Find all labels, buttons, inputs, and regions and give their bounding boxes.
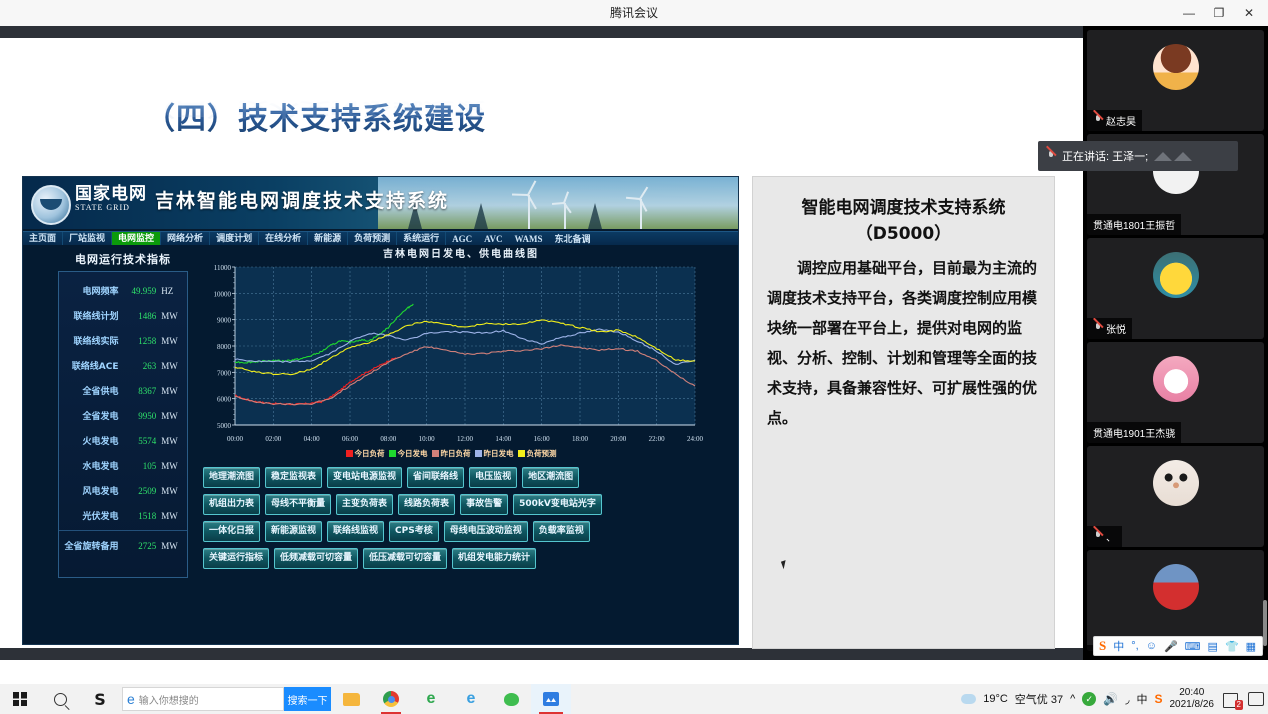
mic-muted-icon xyxy=(1046,151,1056,162)
ems-function-button[interactable]: 事故告警 xyxy=(460,494,508,515)
participant-name: 张悦 xyxy=(1106,321,1126,336)
clock-time: 20:40 xyxy=(1170,687,1215,699)
chevron-up-icon[interactable] xyxy=(1174,152,1192,161)
chart-legend-item: 负荷预测 xyxy=(518,448,557,459)
metric-unit: HZ xyxy=(156,286,187,296)
360-browser-icon[interactable]: e xyxy=(411,684,451,714)
edge-icon: e xyxy=(123,691,135,707)
text-panel-title-line1: 智能电网调度技术支持系统 xyxy=(767,195,1040,221)
metric-unit: MW xyxy=(156,411,187,421)
grid-metrics-panel: 电网运行技术指标 电网频率49.959HZ联络线计划1486MW联络线实际125… xyxy=(58,251,188,586)
volume-icon[interactable]: 🔊 xyxy=(1103,692,1118,706)
speaking-label: 正在讲话: 王泽一; xyxy=(1062,148,1148,164)
action-center-icon[interactable] xyxy=(1248,692,1264,706)
ems-function-button[interactable]: 500kV变电站光字 xyxy=(513,494,602,515)
ems-function-button[interactable]: 母线电压波动监视 xyxy=(444,521,528,542)
chart-legend-item: 今日发电 xyxy=(389,448,428,459)
metric-row: 联络线ACE263MW xyxy=(59,353,187,378)
minimize-button[interactable]: — xyxy=(1174,0,1204,26)
keyboard-icon[interactable]: ⌨ xyxy=(1185,640,1201,653)
notification-count-badge: 2 xyxy=(1235,700,1243,710)
chart-x-tick-label: 02:00 xyxy=(265,435,281,443)
chevron-up-icon[interactable] xyxy=(1154,152,1172,161)
ems-menu-item[interactable]: AVC xyxy=(478,232,508,246)
ems-function-button[interactable]: 机组发电能力统计 xyxy=(452,548,536,569)
metric-label: 风电发电 xyxy=(59,484,123,497)
sogou-ime-toolbar[interactable]: S 中 °, ☺ 🎤 ⌨ ▤ 👕 ▦ xyxy=(1093,636,1263,656)
participant-name-tag: 贯通电1901王杰骁 xyxy=(1087,422,1181,443)
ems-function-button[interactable]: 负载率监视 xyxy=(533,521,590,542)
legend-color-swatch xyxy=(389,450,396,457)
metric-row: 全省供电8367MW xyxy=(59,378,187,403)
legend-color-swatch xyxy=(346,450,353,457)
metric-value: 1486 xyxy=(123,311,157,321)
metric-label: 全省发电 xyxy=(59,409,123,422)
generation-supply-chart: 吉林电网日发电、供电曲线图 50006000700080009000100001… xyxy=(201,247,721,462)
ems-menu-item[interactable]: 系统运行 xyxy=(397,232,446,246)
maximize-button[interactable]: ❐ xyxy=(1204,0,1234,26)
wechat-icon[interactable] xyxy=(491,684,531,714)
ime-punctuation-toggle[interactable]: °, xyxy=(1131,640,1138,652)
ems-system-screenshot: 国家电网 STATE GRID 吉林智能电网调度技术支持系统 主页面厂站监视电网… xyxy=(22,176,739,645)
ems-menu-item[interactable]: 厂站监视 xyxy=(63,232,112,246)
chrome-icon[interactable] xyxy=(371,684,411,714)
metric-row: 风电发电2509MW xyxy=(59,478,187,503)
window-title: 腾讯会议 xyxy=(0,0,1268,26)
sogou-logo-icon[interactable]: S xyxy=(1099,638,1106,654)
chart-legend-item: 昨日发电 xyxy=(475,448,514,459)
legend-label: 负荷预测 xyxy=(527,448,557,459)
metric-row: 联络线计划1486MW xyxy=(59,303,187,328)
search-placeholder: 输入你想搜的 xyxy=(135,692,199,707)
metric-value: 263 xyxy=(123,361,157,371)
close-button[interactable]: ✕ xyxy=(1234,0,1264,26)
metric-row: 电网频率49.959HZ xyxy=(59,278,187,303)
ems-function-button[interactable]: 线路负荷表 xyxy=(398,494,455,515)
metric-row: 火电发电5574MW xyxy=(59,428,187,453)
participant-name-tag: 、 xyxy=(1087,526,1122,547)
metric-value: 2509 xyxy=(123,486,157,496)
avatar xyxy=(1153,44,1199,90)
metric-value: 1518 xyxy=(123,511,157,521)
ems-function-button[interactable]: 新能源监视 xyxy=(265,521,322,542)
skin-icon[interactable]: 👕 xyxy=(1225,640,1239,653)
chart-x-tick-label: 04:00 xyxy=(304,435,320,443)
ems-function-button[interactable]: 母线不平衡量 xyxy=(265,494,331,515)
ems-menu-item[interactable]: AGC xyxy=(446,232,478,246)
participant-name-tag: 张悦 xyxy=(1087,318,1132,339)
search-submit-button[interactable]: 搜索一下 xyxy=(284,687,331,711)
slide-title-reflection: （四）技术支持系统建设 xyxy=(145,97,486,124)
microphone-icon[interactable]: 🎤 xyxy=(1164,640,1178,653)
metric-unit: MW xyxy=(156,461,187,471)
ems-button-row: 地理潮流图稳定监视表变电站电源监视省间联络线电压监视地区潮流图 xyxy=(203,467,723,488)
svg-text:11000: 11000 xyxy=(214,264,232,272)
file-explorer-icon[interactable] xyxy=(331,684,371,714)
ems-menu-item[interactable]: 调度计划 xyxy=(210,232,259,246)
ems-function-button[interactable]: 地区潮流图 xyxy=(522,467,579,488)
ems-function-button[interactable]: 主变负荷表 xyxy=(336,494,393,515)
svg-text:5000: 5000 xyxy=(217,422,232,430)
metric-unit: MW xyxy=(156,311,187,321)
participant-card[interactable]: 贯通电1901王杰骁 xyxy=(1087,342,1264,443)
metrics-panel-title: 电网运行技术指标 xyxy=(58,251,188,267)
ems-function-button[interactable]: 稳定监视表 xyxy=(265,467,322,488)
toolbox-icon[interactable]: ▤ xyxy=(1208,640,1218,653)
chart-x-axis-labels: 00:0002:0004:0006:0008:0010:0012:0014:00… xyxy=(201,435,701,447)
ems-menu-item[interactable]: WAMS xyxy=(508,232,548,246)
metric-label: 电网频率 xyxy=(59,284,123,297)
text-panel-title: 智能电网调度技术支持系统 （D5000） xyxy=(767,195,1040,247)
legend-label: 昨日发电 xyxy=(484,448,514,459)
participant-card[interactable]: 张悦 xyxy=(1087,238,1264,339)
metric-label: 水电发电 xyxy=(59,459,123,472)
ems-function-button[interactable]: CPS考核 xyxy=(389,521,439,542)
metric-label: 全省旋转备用 xyxy=(59,539,123,552)
chart-x-tick-label: 06:00 xyxy=(342,435,358,443)
presentation-slide: （四）技术支持系统建设 （四）技术支持系统建设 xyxy=(0,38,1083,648)
rail-scrollbar[interactable] xyxy=(1263,600,1267,646)
metric-value: 2725 xyxy=(123,541,157,551)
chart-legend: 今日负荷今日发电昨日负荷昨日发电负荷预测 xyxy=(201,447,701,459)
window-controls: — ❐ ✕ xyxy=(1174,0,1264,26)
taskbar-clock[interactable]: 20:40 2021/8/26 xyxy=(1170,687,1215,711)
legend-color-swatch xyxy=(518,450,525,457)
notification-icon[interactable]: 2 xyxy=(1221,689,1241,709)
cloud-icon xyxy=(961,694,976,704)
state-grid-brand: 国家电网 STATE GRID xyxy=(75,184,147,213)
ems-function-button[interactable]: 联络线监视 xyxy=(327,521,384,542)
ems-function-button[interactable]: 一体化日报 xyxy=(203,521,260,542)
ems-button-row: 一体化日报新能源监视联络线监视CPS考核母线电压波动监视负载率监视 xyxy=(203,521,723,542)
metric-unit: MW xyxy=(156,361,187,371)
slide-text-panel: 智能电网调度技术支持系统 （D5000） 调控应用基础平台，目前最为主流的调度技… xyxy=(752,176,1055,649)
metric-label: 全省供电 xyxy=(59,384,123,397)
participant-name: 贯通电1801王振哲 xyxy=(1093,217,1175,232)
metric-unit: MW xyxy=(156,386,187,396)
temperature-label: 19°C xyxy=(983,693,1008,705)
ems-button-row: 关键运行指标低频减载可切容量低压减载可切容量机组发电能力统计 xyxy=(203,548,723,569)
metric-value: 1258 xyxy=(123,336,157,346)
metric-value: 105 xyxy=(123,461,157,471)
chart-x-tick-label: 16:00 xyxy=(534,435,550,443)
windows-taskbar[interactable]: S e 输入你想搜的 搜索一下 e e 19°C 空气优 37 ^ ✓ 🔊 ◞ … xyxy=(0,684,1268,714)
metric-row: 全省发电9950MW xyxy=(59,403,187,428)
metric-value: 5574 xyxy=(123,436,157,446)
mic-muted-icon xyxy=(1093,531,1103,542)
ems-function-button[interactable]: 变电站电源监视 xyxy=(327,467,402,488)
svg-text:6000: 6000 xyxy=(217,396,232,404)
ems-menu-item[interactable]: 电网监控 xyxy=(112,232,161,246)
svg-text:9000: 9000 xyxy=(217,317,232,325)
legend-label: 昨日负荷 xyxy=(441,448,471,459)
metric-label: 光伏发电 xyxy=(59,509,123,522)
metric-unit: MW xyxy=(156,511,187,521)
ems-function-button[interactable]: 地理潮流图 xyxy=(203,467,260,488)
taskbar-search-box[interactable]: e 输入你想搜的 xyxy=(122,687,284,711)
avatar xyxy=(1153,252,1199,298)
mic-muted-icon xyxy=(1093,115,1103,126)
ems-content-area: 电网运行技术指标 电网频率49.959HZ联络线计划1486MW联络线实际125… xyxy=(23,245,738,644)
ems-menu-item[interactable]: 负荷预测 xyxy=(348,232,397,246)
svg-text:7000: 7000 xyxy=(217,369,232,377)
participant-name: 赵志昊 xyxy=(1106,113,1136,128)
chart-x-tick-label: 22:00 xyxy=(649,435,665,443)
metric-unit: MW xyxy=(156,436,187,446)
ems-function-button[interactable]: 机组出力表 xyxy=(203,494,260,515)
speaking-indicator: 正在讲话: 王泽一; xyxy=(1038,141,1238,171)
metric-unit: MW xyxy=(156,486,187,496)
svg-text:10000: 10000 xyxy=(214,290,232,298)
chart-plot-area: 500060007000800090001000011000 xyxy=(201,263,701,433)
chart-x-tick-label: 10:00 xyxy=(419,435,435,443)
ime-mode-toggle[interactable]: 中 xyxy=(1113,638,1124,654)
tray-expand-chevron-icon[interactable]: ^ xyxy=(1070,693,1075,705)
ems-menu-item[interactable]: 网络分析 xyxy=(161,232,210,246)
chart-x-tick-label: 00:00 xyxy=(227,435,243,443)
chart-legend-item: 昨日负荷 xyxy=(432,448,471,459)
metric-value: 9950 xyxy=(123,411,157,421)
ems-menu-item[interactable]: 主页面 xyxy=(23,232,63,246)
avatar xyxy=(1153,356,1199,402)
metric-row: 光伏发电1518MW xyxy=(59,503,187,528)
chart-x-tick-label: 12:00 xyxy=(457,435,473,443)
metric-label: 联络线实际 xyxy=(59,334,123,347)
text-panel-body: 调控应用基础平台，目前最为主流的调度技术支持平台，各类调度控制应用模块统一部署在… xyxy=(767,253,1040,433)
ems-menu-item[interactable]: 东北备调 xyxy=(549,232,597,246)
chart-legend-item: 今日负荷 xyxy=(346,448,385,459)
ems-function-button[interactable]: 关键运行指标 xyxy=(203,548,269,569)
chart-x-tick-label: 20:00 xyxy=(610,435,626,443)
chart-title: 吉林电网日发电、供电曲线图 xyxy=(201,247,721,263)
tencent-meeting-icon[interactable] xyxy=(531,684,571,714)
windows-start-icon[interactable] xyxy=(0,684,40,714)
brand-name-en: STATE GRID xyxy=(75,203,147,213)
legend-label: 今日发电 xyxy=(398,448,428,459)
svg-text:8000: 8000 xyxy=(217,343,232,351)
security-icon[interactable]: ✓ xyxy=(1082,692,1096,706)
ime-indicator[interactable]: 中 xyxy=(1136,691,1147,707)
ems-header-banner: 国家电网 STATE GRID 吉林智能电网调度技术支持系统 xyxy=(23,177,738,229)
emoji-icon[interactable]: ☺ xyxy=(1146,640,1157,652)
participant-name-tag: 赵志昊 xyxy=(1087,110,1142,131)
sogou-tray-icon[interactable]: S xyxy=(1154,692,1162,706)
ems-function-button[interactable]: 电压监视 xyxy=(469,467,517,488)
shared-screen-area: （四）技术支持系统建设 （四）技术支持系统建设 xyxy=(0,26,1083,660)
metric-label: 联络线ACE xyxy=(59,359,123,372)
sogou-browser-icon[interactable]: S xyxy=(80,684,120,714)
ems-function-buttons: 地理潮流图稳定监视表变电站电源监视省间联络线电压监视地区潮流图机组出力表母线不平… xyxy=(203,467,723,575)
avatar xyxy=(1153,564,1199,610)
participant-name-tag: 贯通电1801王振哲 xyxy=(1087,214,1181,235)
metric-unit: MW xyxy=(156,541,187,551)
air-quality-label: 空气优 37 xyxy=(1015,691,1063,707)
metric-row: 全省旋转备用2725MW xyxy=(59,530,187,558)
chart-x-tick-label: 24:00 xyxy=(687,435,703,443)
metric-value: 8367 xyxy=(123,386,157,396)
window-title-bar: 腾讯会议 — ❐ ✕ xyxy=(0,0,1268,27)
metric-row: 水电发电105MW xyxy=(59,453,187,478)
ems-button-row: 机组出力表母线不平衡量主变负荷表线路负荷表事故告警500kV变电站光字 xyxy=(203,494,723,515)
metric-value: 49.959 xyxy=(123,286,157,296)
ems-function-button[interactable]: 低频减载可切容量 xyxy=(274,548,358,569)
state-grid-logo-icon xyxy=(31,185,71,225)
clock-date: 2021/8/26 xyxy=(1170,699,1215,711)
metric-label: 联络线计划 xyxy=(59,309,123,322)
brand-name-cn: 国家电网 xyxy=(75,184,147,203)
participant-name: 贯通电1901王杰骁 xyxy=(1093,425,1175,440)
chart-x-tick-label: 14:00 xyxy=(495,435,511,443)
legend-color-swatch xyxy=(475,450,482,457)
metrics-list: 电网频率49.959HZ联络线计划1486MW联络线实际1258MW联络线ACE… xyxy=(58,271,188,578)
participant-rail[interactable]: 赵志昊贯通电1801王振哲张悦贯通电1901王杰骁、 xyxy=(1083,26,1268,660)
legend-label: 今日负荷 xyxy=(355,448,385,459)
chart-x-tick-label: 18:00 xyxy=(572,435,588,443)
ems-function-button[interactable]: 省间联络线 xyxy=(407,467,464,488)
system-tray: 19°C 空气优 37 ^ ✓ 🔊 ◞ 中 S 20:40 2021/8/26 … xyxy=(961,684,1264,714)
participant-name: 、 xyxy=(1106,529,1116,544)
legend-color-swatch xyxy=(432,450,439,457)
ems-system-name: 吉林智能电网调度技术支持系统 xyxy=(155,186,449,213)
internet-explorer-icon[interactable]: e xyxy=(451,684,491,714)
more-icon[interactable]: ▦ xyxy=(1246,640,1256,653)
chart-x-tick-label: 08:00 xyxy=(380,435,396,443)
search-icon[interactable] xyxy=(40,684,80,714)
participant-card[interactable]: 赵志昊 xyxy=(1087,30,1264,131)
avatar xyxy=(1153,460,1199,506)
ems-function-button[interactable]: 低压减载可切容量 xyxy=(363,548,447,569)
wifi-icon[interactable]: ◞ xyxy=(1125,693,1129,706)
participant-card[interactable]: 、 xyxy=(1087,446,1264,547)
mic-muted-icon xyxy=(1093,323,1103,334)
text-panel-title-line2: （D5000） xyxy=(767,221,1040,247)
ems-menu-item[interactable]: 新能源 xyxy=(308,232,348,246)
ems-menu-item[interactable]: 在线分析 xyxy=(259,232,308,246)
metric-unit: MW xyxy=(156,336,187,346)
metric-label: 火电发电 xyxy=(59,434,123,447)
metric-row: 联络线实际1258MW xyxy=(59,328,187,353)
